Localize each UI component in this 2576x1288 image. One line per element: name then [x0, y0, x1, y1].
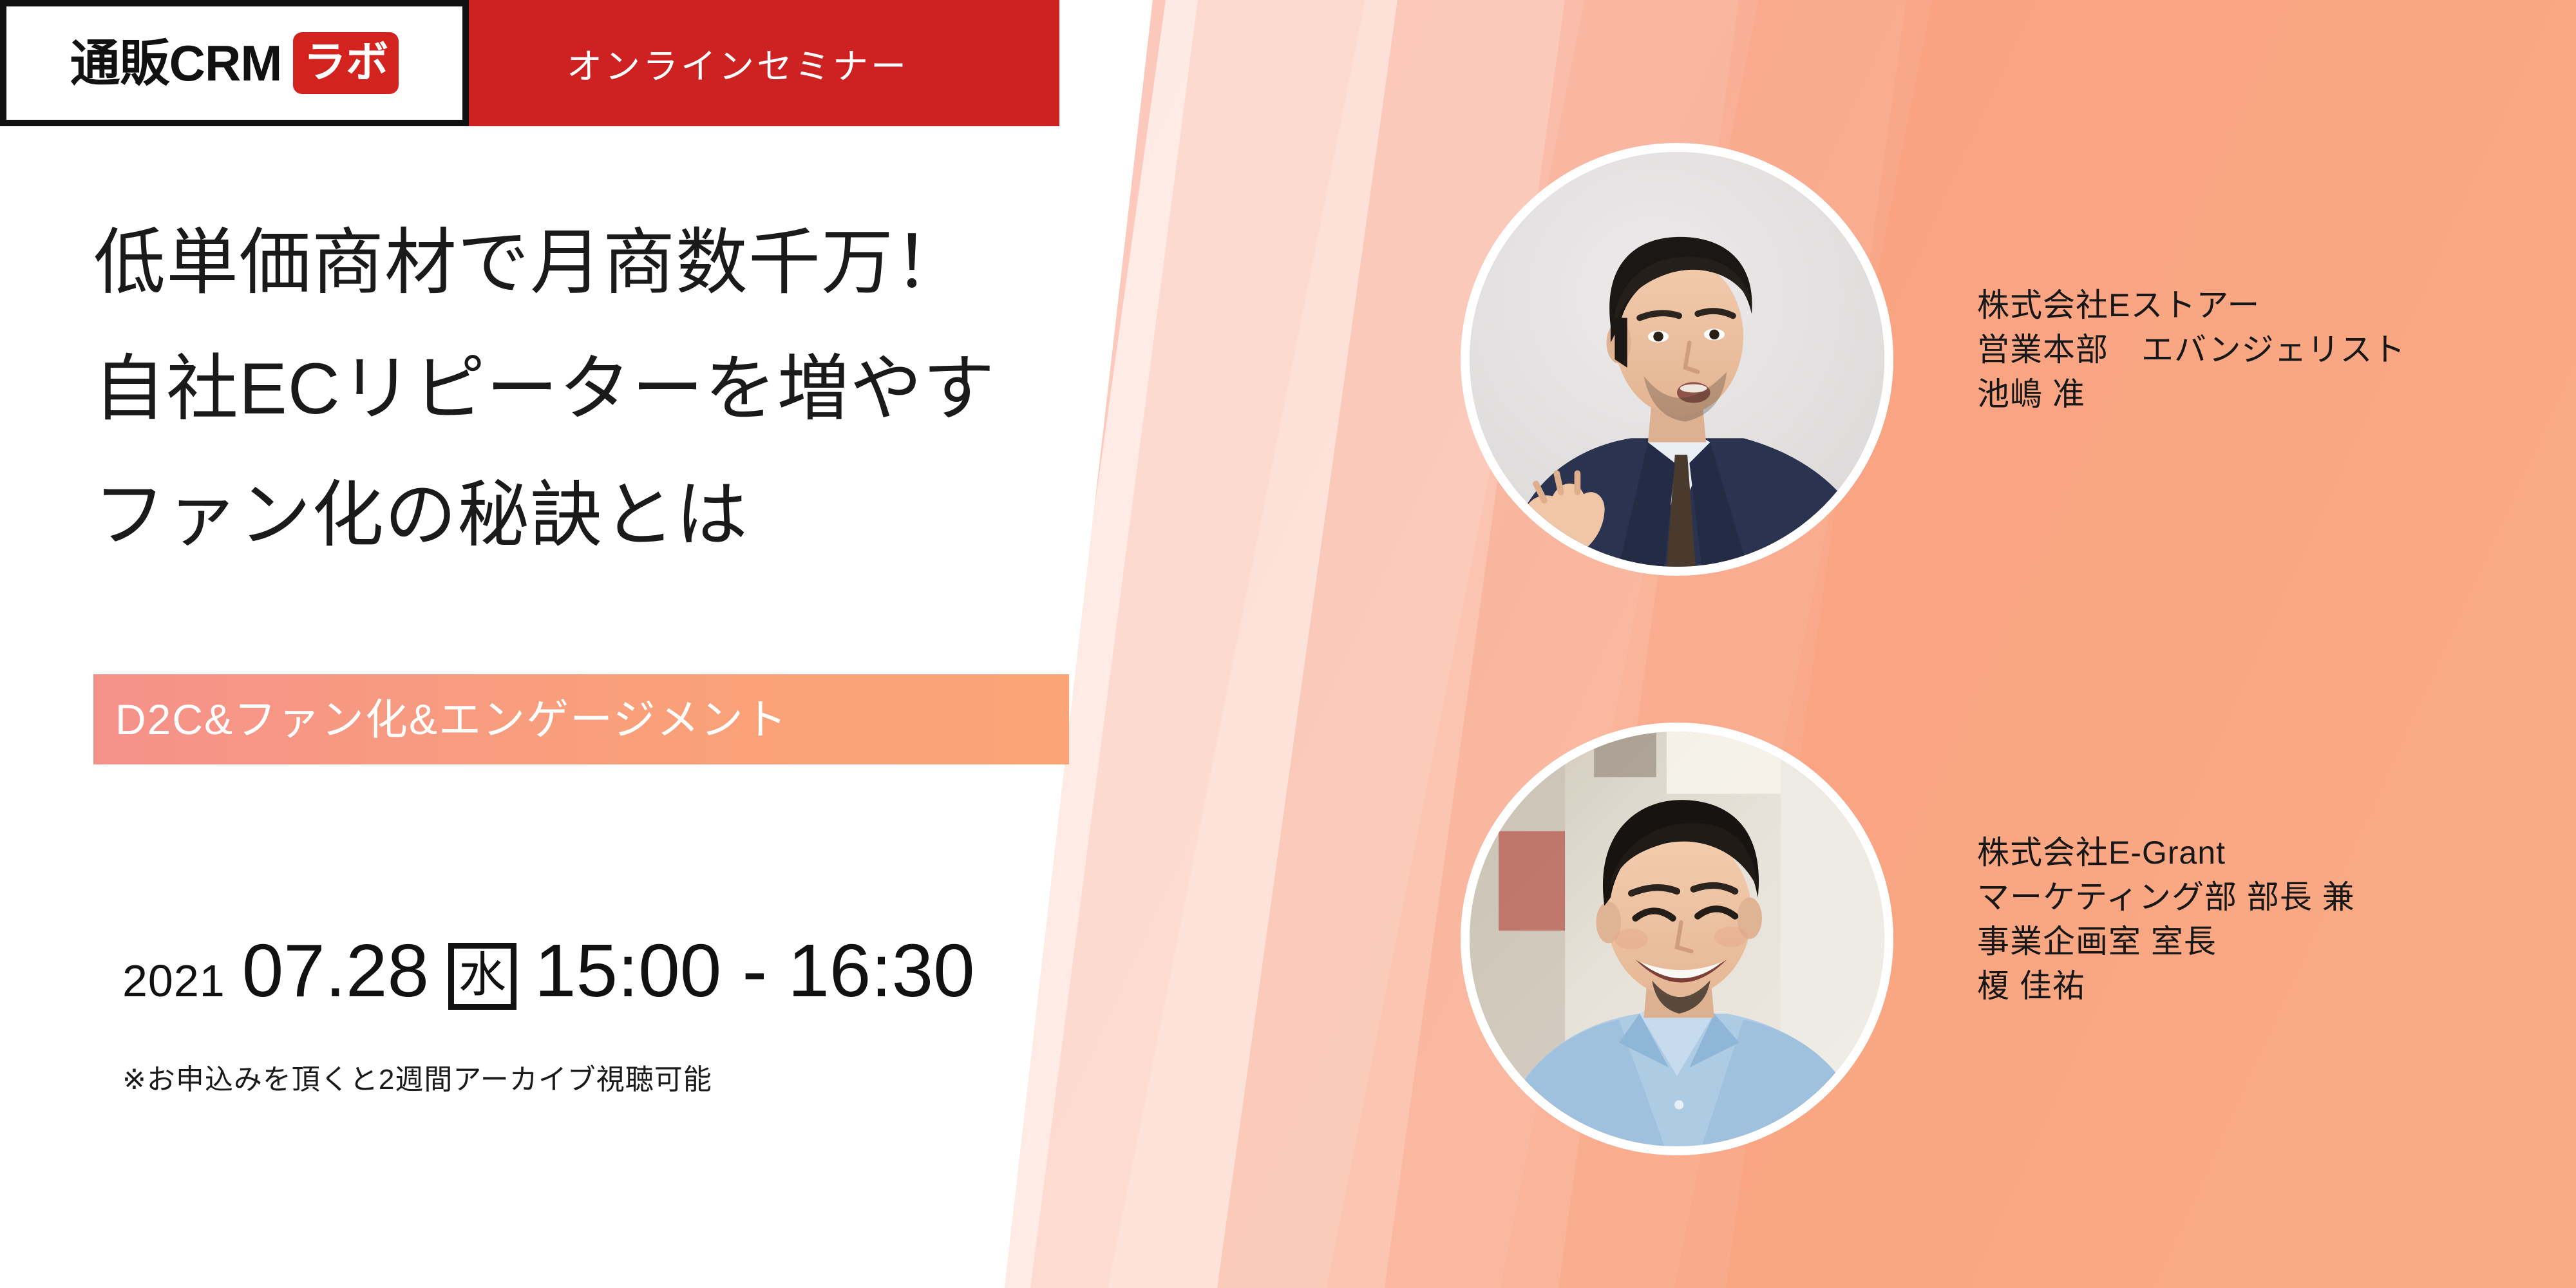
event-year: 2021	[122, 955, 225, 1007]
speaker-photo-ikeshima	[1461, 143, 1893, 576]
event-time-range: 15:00 - 16:30	[535, 927, 975, 1014]
speaker-2-company: 株式会社E-Grant	[1977, 831, 2355, 875]
event-month-day: 07.28	[242, 927, 429, 1014]
speaker-1-company: 株式会社Eストアー	[1977, 283, 2406, 328]
title-line-3: ファン化の秘訣とは	[93, 479, 996, 551]
event-day-of-week-box: 水	[448, 943, 516, 1010]
title-line-2: 自社ECリピーターを増やす	[93, 353, 996, 425]
header-seminar-label: オンラインセミナー	[567, 0, 909, 126]
brand-logo: 通販CRM ラボ	[0, 0, 469, 126]
page-title: 低単価商材で月商数千万！ 自社ECリピーターを増やす ファン化の秘訣とは	[93, 227, 996, 551]
brand-logo-badge: ラボ	[293, 32, 399, 94]
event-datetime: 2021 07.28 水 15:00 - 16:30	[122, 927, 975, 1015]
speaker-2-title-2: 事業企画室 室長	[1977, 920, 2355, 964]
speaker-photo-enoki	[1461, 723, 1893, 1155]
brand-logo-text: 通販CRM	[70, 38, 282, 88]
speaker-2-title-1: マーケティング部 部長 兼	[1977, 875, 2355, 920]
speaker-2-name: 榎 佳祐	[1977, 964, 2355, 1009]
archive-note: ※お申込みを頂くと2週間アーカイブ視聴可能	[122, 1056, 712, 1097]
subtitle-text: D2C&ファン化&エンゲージメント	[93, 698, 788, 741]
speaker-info-2: 株式会社E-Grant マーケティング部 部長 兼 事業企画室 室長 榎 佳祐	[1977, 831, 2355, 1009]
speaker-1-title: 営業本部 エバンジェリスト	[1977, 328, 2406, 372]
speaker-1-name: 池嶋 准	[1977, 372, 2406, 417]
subtitle-band: D2C&ファン化&エンゲージメント	[93, 674, 1069, 764]
speaker-info-1: 株式会社Eストアー 営業本部 エバンジェリスト 池嶋 准	[1977, 283, 2406, 417]
title-line-1: 低単価商材で月商数千万！	[93, 227, 996, 299]
